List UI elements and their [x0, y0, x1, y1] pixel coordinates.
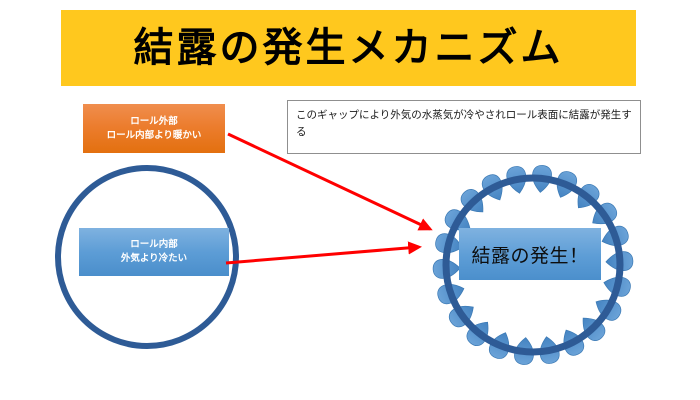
- title-banner: 結露の発生メカニズム: [61, 10, 636, 86]
- condensation-label-text: 結露の発生！: [471, 241, 588, 268]
- roll-exterior-line2: ロール内部より暖かい: [107, 129, 202, 143]
- slide-canvas: 結露の発生メカニズム ロール外部 ロール内部より暖かい このギャップにより外気の…: [0, 0, 700, 400]
- roll-exterior-callout: ロール外部 ロール内部より暖かい: [83, 104, 225, 153]
- gap-description-textbox: このギャップにより外気の水蒸気が冷やされロール表面に結露が発生する: [287, 100, 641, 154]
- roll-exterior-line1: ロール外部: [130, 115, 178, 129]
- page-title: 結露の発生メカニズム: [134, 28, 564, 68]
- roll-interior-line2: 外気より冷たい: [121, 252, 187, 266]
- roll-interior-callout: ロール内部 外気より冷たい: [79, 228, 229, 276]
- arrow-interior-to-condensation: [226, 247, 419, 263]
- roll-interior-line1: ロール内部: [130, 238, 178, 252]
- gap-description-text: このギャップにより外気の水蒸気が冷やされロール表面に結露が発生する: [296, 107, 632, 142]
- condensation-label-box: 結露の発生！: [459, 228, 601, 280]
